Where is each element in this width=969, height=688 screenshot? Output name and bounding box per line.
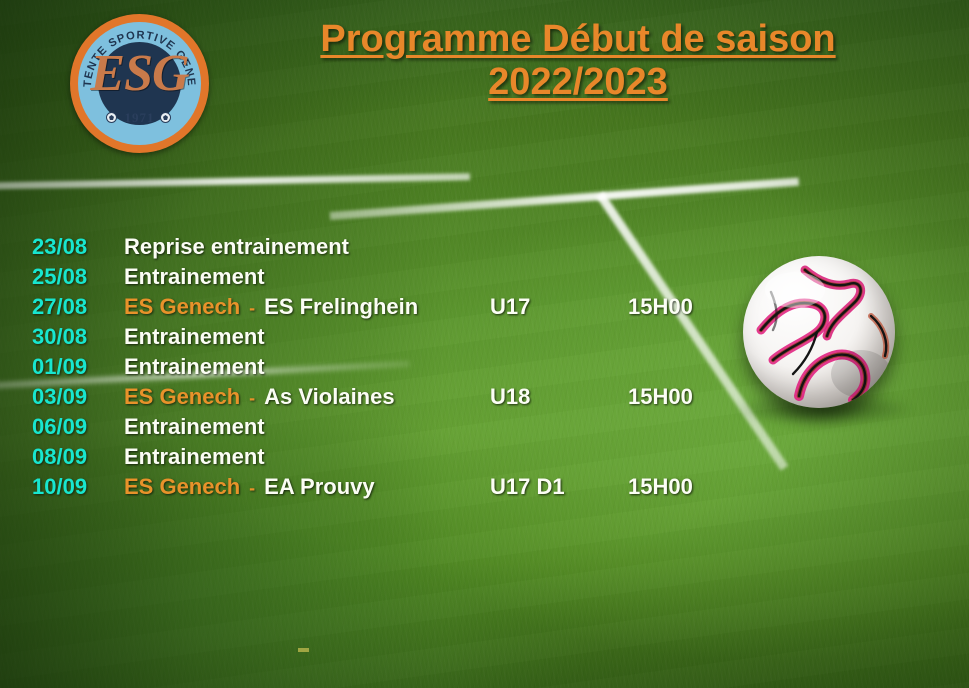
schedule-row-match: 10/09ES Genech-EA ProuvyU17 D115H00 [32,474,932,504]
row-kickoff-time: 15H00 [628,294,693,320]
row-activity-label: Reprise entrainement [124,234,349,260]
row-date: 10/09 [32,474,124,500]
schedule-row-training: 23/08Reprise entrainement [32,234,932,264]
schedule-row-training: 06/09Entrainement [32,414,932,444]
row-date: 25/08 [32,264,124,290]
row-date: 03/09 [32,384,124,410]
row-activity-label: Entrainement [124,324,265,350]
row-kickoff-time: 15H00 [628,474,693,500]
crest-ring-text: ENTENTE SPORTIVE GENECH [70,14,197,88]
row-date: 08/09 [32,444,124,470]
svg-text:ENTENTE SPORTIVE GENECH: ENTENTE SPORTIVE GENECH [70,14,197,88]
row-activity-label: Entrainement [124,414,265,440]
row-home-team: ES Genech [124,294,240,320]
schedule-row-training: 30/08Entrainement [32,324,932,354]
row-date: 23/08 [32,234,124,260]
row-category: U17 D1 [490,474,565,500]
row-away-team: As Violaines [264,384,394,410]
crest-year: 1971 [70,110,209,126]
schedule-row-training: 08/09Entrainement [32,444,932,474]
row-date: 30/08 [32,324,124,350]
row-date: 01/09 [32,354,124,380]
row-away-team: ES Frelinghein [264,294,418,320]
row-activity-label: Entrainement [124,354,265,380]
poster-canvas: ENTENTE SPORTIVE GENECH ESG 1971 Program… [0,0,969,688]
club-crest: ENTENTE SPORTIVE GENECH ESG 1971 [70,14,209,153]
page-title: Programme Début de saison 2022/2023 [228,18,928,103]
row-separator: - [240,478,264,499]
schedule-row-training: 01/09Entrainement [32,354,932,384]
row-separator: - [240,388,264,409]
title-line-2: 2022/2023 [488,61,668,103]
row-date: 06/09 [32,414,124,440]
row-home-team: ES Genech [124,384,240,410]
row-category: U18 [490,384,530,410]
schedule-row-match: 27/08ES Genech-ES FrelingheinU1715H00 [32,294,932,324]
row-activity-label: Entrainement [124,444,265,470]
row-category: U17 [490,294,530,320]
row-activity-label: Entrainement [124,264,265,290]
row-away-team: EA Prouvy [264,474,374,500]
stray-mark [298,648,309,652]
row-home-team: ES Genech [124,474,240,500]
row-date: 27/08 [32,294,124,320]
row-separator: - [240,298,264,319]
row-kickoff-time: 15H00 [628,384,693,410]
schedule-row-match: 03/09ES Genech-As ViolainesU1815H00 [32,384,932,414]
title-line-1: Programme Début de saison [320,18,835,60]
soccer-ball-icon [160,112,171,123]
schedule-row-training: 25/08Entrainement [32,264,932,294]
schedule-list: 23/08Reprise entrainement25/08Entraineme… [32,234,932,504]
